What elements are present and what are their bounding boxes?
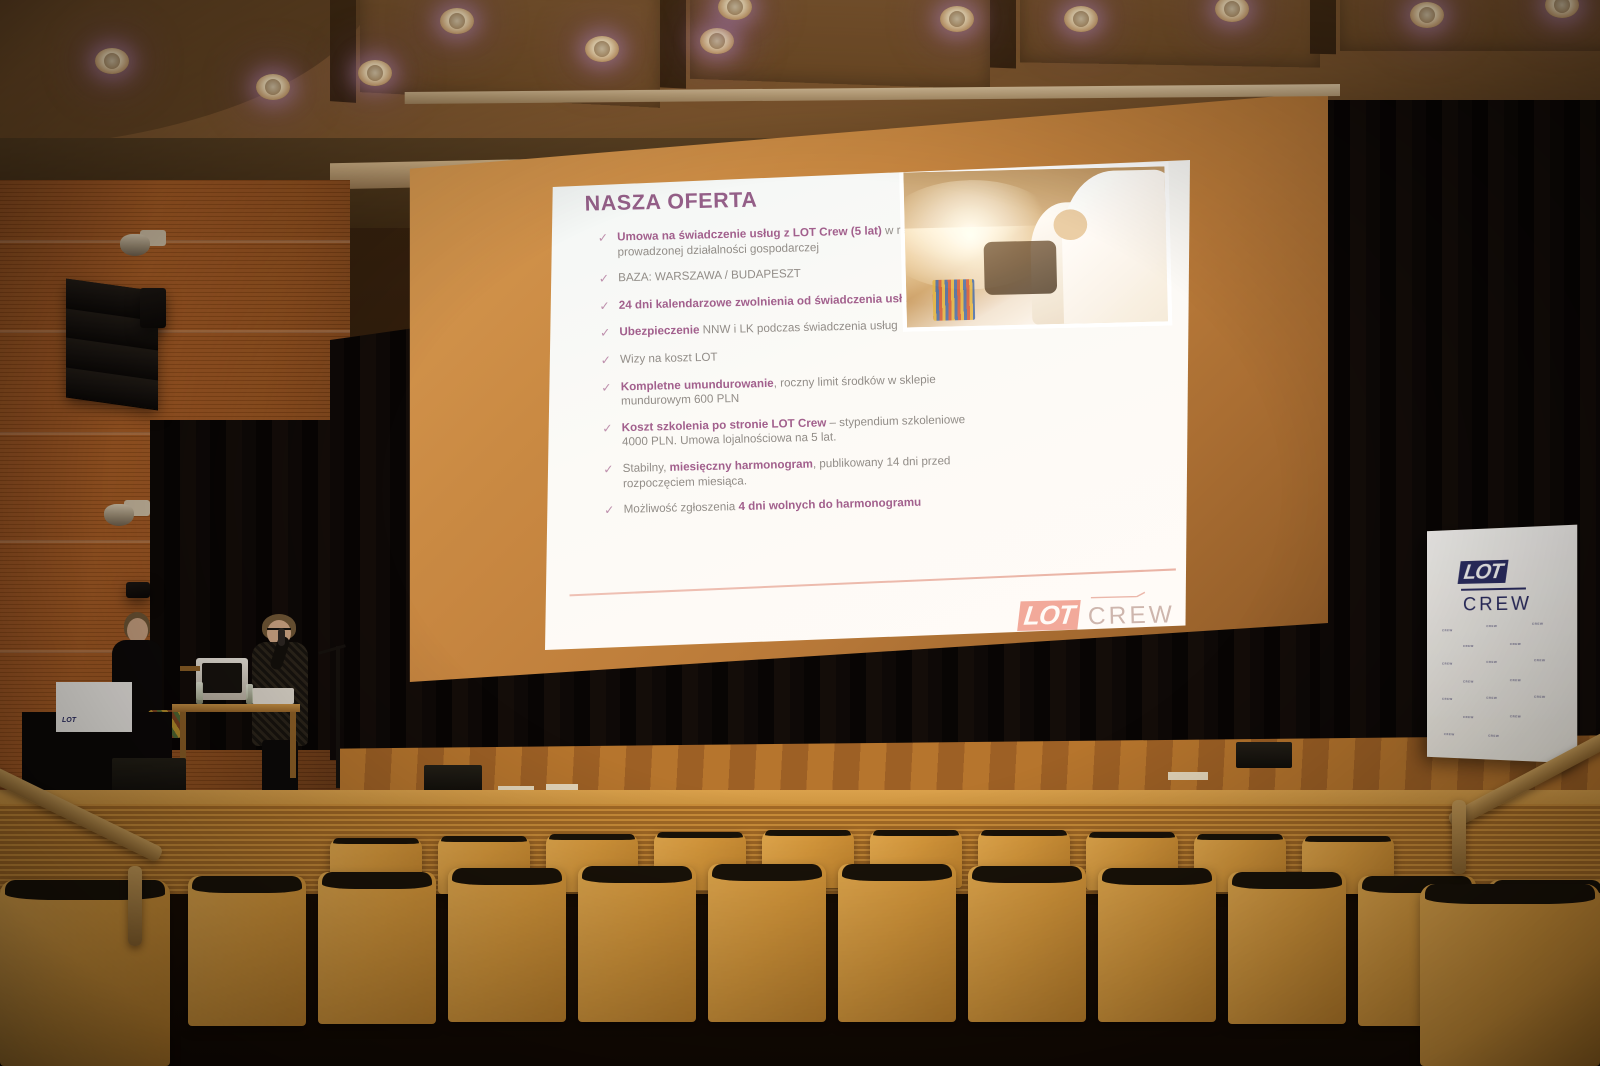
bullet-text: BAZA: WARSZAWA / BUDAPESZT [618,267,801,287]
banner-tile-logo: CREW [1463,679,1474,683]
check-icon: ✓ [599,272,610,288]
ceiling-downlight [95,48,129,74]
auditorium-seat[interactable] [188,876,306,1026]
check-icon: ✓ [599,299,610,315]
stage-papers [1168,772,1208,780]
wall-seam [0,240,350,243]
ceiling-panel [1020,0,1320,68]
banner-crew-wordmark: CREW [1463,593,1532,616]
camera-dome [120,234,150,256]
bullet-text: Stabilny, miesięczny harmonogram, publik… [623,453,983,491]
lot-poster: LOT [56,682,132,732]
list-item: ✓Koszt szkolenia po stronie LOT Crew – s… [602,408,1169,451]
crew-wordmark: CREW [1088,601,1176,631]
presenter-desk [172,704,300,712]
microphone-stand [336,646,340,788]
banner-divider [1461,587,1526,590]
list-item: ✓Kompletne umundurowanie, roczny limit ś… [601,367,1168,410]
ceiling-downlight [700,28,734,54]
lot-wordmark: LOT [1017,600,1081,631]
ceiling-beam [1310,0,1336,54]
laptop [252,688,294,704]
desk-leg [290,712,296,778]
banner-tile-logo: CREW [1444,732,1455,736]
ceiling-downlight [256,74,290,100]
poster-lot-wordmark: LOT [62,717,76,724]
aisle-handrail-left-post [128,866,142,946]
banner-tile-logo: CREW [1486,696,1497,700]
ceiling-beam [330,0,356,103]
check-icon: ✓ [600,353,611,369]
photo-pilot-foreground [1060,169,1172,324]
check-icon: ✓ [600,326,611,342]
microphone-icon [278,628,285,646]
banner-tile-logo: CREW [1488,734,1499,738]
check-icon: ✓ [598,231,609,261]
auditorium-seat[interactable] [1228,872,1346,1024]
monitor [196,658,248,700]
stage-monitor-speaker [1236,742,1292,768]
lot-crane-icon [1089,591,1148,601]
check-icon: ✓ [601,380,612,410]
cockpit-photo [899,162,1172,331]
water-bottle [246,684,253,704]
ceiling-downlight [940,6,974,32]
banner-tile-logo: CREW [1534,658,1545,662]
auditorium-seat-foreground[interactable] [0,880,170,1066]
banner-tile-logo: CREW [1463,715,1474,719]
monitor-screen [202,663,242,693]
auditorium-seat[interactable] [578,866,696,1022]
ceiling-beam [990,0,1016,68]
banner-tile-logo: CREW [1510,642,1521,646]
check-icon: ✓ [604,503,615,519]
crew-wordmark-wrap: CREW [1088,603,1176,630]
presentation-slide: NASZA OFERTA ✓Umowa na świadczenie usług… [545,160,1190,650]
banner-tile-logo: CREW [1532,622,1543,626]
banner-tile-logo: CREW [1442,662,1453,666]
wall-box-fixture [126,582,150,598]
ceiling-downlight [1410,2,1444,28]
check-icon: ✓ [603,462,614,492]
photo-yoke [983,240,1057,294]
auditorium-photo: NASZA OFERTA ✓Umowa na świadczenie usług… [0,0,1600,1066]
speaker-mount-bracket [140,288,166,328]
banner-tile-logo: CREW [1534,695,1545,699]
list-item: ✓Stabilny, miesięczny harmonogram, publi… [603,449,1170,492]
banner-tile-logo: CREW [1510,714,1521,718]
slide-divider-rule [569,568,1175,596]
banner-tile-logo: CREW [1510,678,1521,682]
bullet-text: Kompletne umundurowanie, roczny limit śr… [621,371,981,409]
stage-monitor-speaker [424,765,482,793]
banner-tile-logo: CREW [1486,660,1497,664]
banner-tile-logo: CREW [1442,697,1453,701]
banner-lot-wordmark: LOT [1458,560,1509,584]
banner-tile-logo: CREW [1463,644,1474,648]
banner-tile-logo: CREW [1442,628,1453,632]
bullet-text: Ubezpieczenie NNW i LK podczas świadczen… [619,319,898,341]
bullet-text: Koszt szkolenia po stronie LOT Crew – st… [622,412,982,450]
check-icon: ✓ [602,421,613,451]
list-item: ✓Wizy na koszt LOT [600,340,1166,369]
banner-tile-logo: CREW [1486,624,1497,628]
ceiling-downlight [585,36,619,62]
ceiling-curved-soffit [0,0,380,150]
auditorium-seat[interactable] [318,872,436,1024]
ceiling-downlight [440,8,474,34]
auditorium-seat[interactable] [1098,868,1216,1022]
lot-crew-rollup-banner: LOT CREW CREW CREW CREW CREW CREW CREW C… [1427,525,1577,764]
auditorium-seat[interactable] [448,868,566,1022]
monitor-arm [180,666,200,671]
auditorium-seat[interactable] [708,864,826,1022]
dome-camera-lower [104,498,152,528]
dome-camera-upper [120,228,168,258]
ceiling-downlight [358,60,392,86]
auditorium-seat[interactable] [968,866,1086,1022]
aisle-handrail-right-post [1452,800,1466,874]
ceiling-beam [660,0,686,89]
ceiling-downlight [1064,6,1098,32]
camera-dome [104,504,134,526]
wall-seam [0,330,350,333]
list-item: ✓Możliwość zgłoszenia 4 dni wolnych do h… [604,490,1170,519]
water-bottle [196,682,203,704]
photo-instrument-lights [932,279,975,320]
bullet-text: Wizy na koszt LOT [620,350,718,368]
auditorium-seat-foreground[interactable] [1420,884,1600,1066]
bullet-text: Możliwość zgłoszenia 4 dni wolnych do ha… [623,496,921,519]
auditorium-seat[interactable] [838,864,956,1022]
slide-lot-crew-logo: LOT CREW [1018,598,1175,631]
